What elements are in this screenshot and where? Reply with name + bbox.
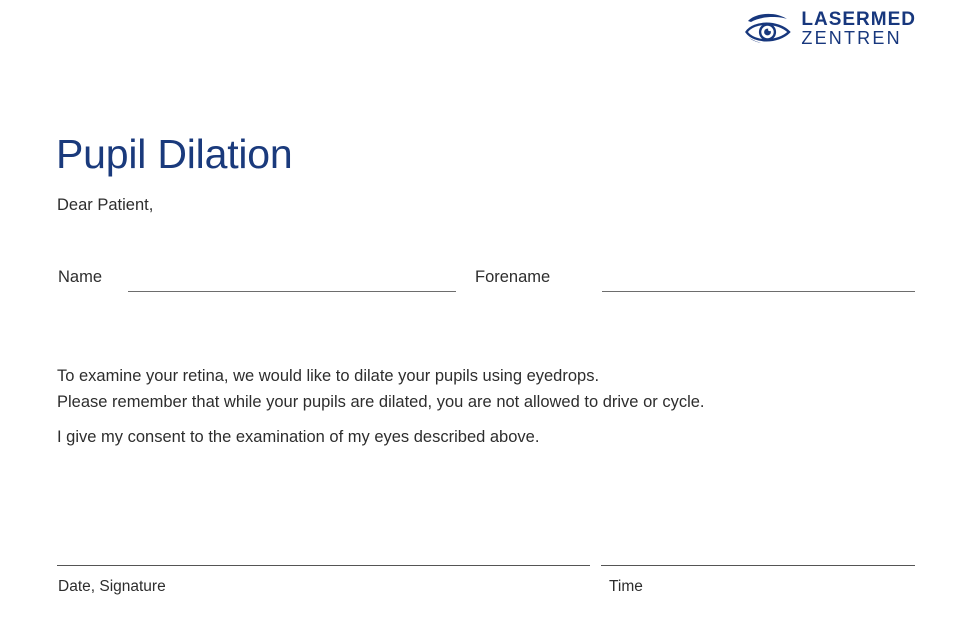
body-line-2: Please remember that while your pupils a… [57,389,705,415]
time-label: Time [609,578,643,596]
brand-line-1: LASERMED [801,10,916,29]
signature-block: Date, Signature Time [0,560,960,610]
eye-icon [745,12,791,46]
brand-line-2: ZENTREN [801,29,916,47]
name-label: Name [58,268,102,287]
document-header: LASERMED ZENTREN [0,0,960,60]
body-copy: To examine your retina, we would like to… [57,363,705,415]
forename-input[interactable] [602,291,915,292]
body-line-1: To examine your retina, we would like to… [57,363,705,389]
page-title: Pupil Dilation [56,131,293,178]
time-input[interactable] [601,565,915,566]
forename-label: Forename [475,268,550,287]
salutation: Dear Patient, [57,196,153,215]
date-signature-input[interactable] [57,565,590,566]
brand-wordmark: LASERMED ZENTREN [801,10,916,48]
date-signature-label: Date, Signature [58,578,166,596]
brand-logo: LASERMED ZENTREN [745,10,916,48]
patient-name-row: Name Forename [0,268,960,298]
consent-statement: I give my consent to the examination of … [57,428,539,447]
name-input[interactable] [128,291,456,292]
